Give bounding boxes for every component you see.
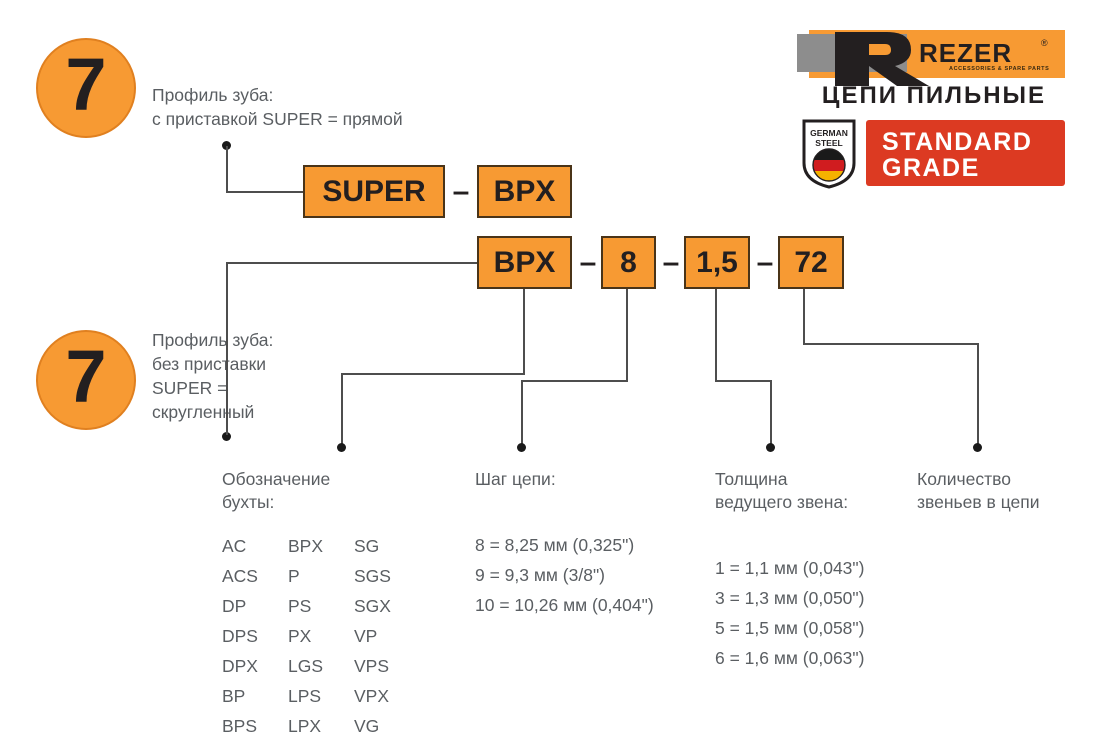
list-item: DPX	[222, 651, 288, 681]
code-box-bpx-top[interactable]: BPX	[477, 165, 572, 218]
connector-dot-gauge	[766, 443, 775, 452]
list-item: P	[288, 561, 354, 591]
legend-pitch-items: 8 = 8,25 мм (0,325") 9 = 9,3 мм (3/8") 1…	[475, 530, 654, 620]
tooth-profile-badge-1: 7	[36, 38, 136, 138]
logo-tagline: ACCESSORIES & SPARE PARTS	[949, 66, 1049, 72]
list-item: PS	[288, 591, 354, 621]
svg-text:STEEL: STEEL	[815, 138, 842, 148]
code-box-gauge[interactable]: 1,5	[684, 236, 750, 289]
code-box-bpx[interactable]: BPX	[477, 236, 572, 289]
connector-coil-horz	[341, 373, 525, 375]
list-item: 5 = 1,5 мм (0,058")	[715, 613, 864, 643]
connector-line-row2-horz	[226, 262, 478, 264]
list-item: BPX	[288, 531, 354, 561]
legend-coil-column-3: SG SGS SGX VP VPS VPX VG	[354, 531, 420, 741]
brand-logo-block: REZER ® ACCESSORIES & SPARE PARTS ЦЕПИ П…	[797, 30, 1065, 195]
connector-line-row1-horz	[226, 191, 304, 193]
list-item: VPS	[354, 651, 420, 681]
list-item: LPX	[288, 711, 354, 741]
connector-links-vert-b	[977, 343, 979, 448]
separator-dash-1: –	[447, 165, 475, 218]
connector-dot-links	[973, 443, 982, 452]
list-item: 8 = 8,25 мм (0,325")	[475, 530, 654, 560]
code-box-pitch[interactable]: 8	[601, 236, 656, 289]
code-box-links[interactable]: 72	[778, 236, 844, 289]
legend-coil-columns: AC ACS DP DPS DPX BP BPS BPX P PS PX LGS…	[222, 531, 420, 741]
legend-links: Количество звеньев в цепи	[917, 468, 1040, 514]
connector-line-row1-vert	[226, 146, 228, 193]
connector-dot-pitch	[517, 443, 526, 452]
separator-dash-4: –	[751, 236, 779, 289]
tooth-profile-label-1: Профиль зуба: с приставкой SUPER = прямо…	[152, 83, 482, 131]
list-item: VPX	[354, 681, 420, 711]
standard-grade-line-2: GRADE	[882, 156, 980, 181]
logo-wordmark: REZER	[919, 40, 1012, 66]
connector-links-horz	[803, 343, 979, 345]
list-item: BPS	[222, 711, 288, 741]
list-item: VP	[354, 621, 420, 651]
separator-dash-3: –	[657, 236, 685, 289]
legend-coil-column-1: AC ACS DP DPS DPX BP BPS	[222, 531, 288, 741]
list-item: SGS	[354, 561, 420, 591]
list-item: SG	[354, 531, 420, 561]
legend-links-title: Количество звеньев в цепи	[917, 468, 1040, 514]
registered-trademark-icon: ®	[1041, 38, 1048, 48]
tooth-profile-glyph-2: 7	[38, 332, 134, 428]
tooth-profile-label-2: Профиль зуба: без приставки SUPER = скру…	[152, 328, 332, 424]
legend-gauge-items: 1 = 1,1 мм (0,043") 3 = 1,3 мм (0,050") …	[715, 553, 864, 673]
list-item: 10 = 10,26 мм (0,404")	[475, 590, 654, 620]
tooth-profile-badge-2: 7	[36, 330, 136, 430]
legend-pitch-title: Шаг цепи:	[475, 468, 654, 491]
logo-r-mark	[825, 30, 933, 86]
list-item: DPS	[222, 621, 288, 651]
list-item: DP	[222, 591, 288, 621]
list-item: 9 = 9,3 мм (3/8")	[475, 560, 654, 590]
connector-pitch-vert-a	[626, 289, 628, 381]
connector-links-vert-a	[803, 289, 805, 344]
code-box-super[interactable]: SUPER	[303, 165, 445, 218]
legend-gauge-title: Толщина ведущего звена:	[715, 468, 864, 514]
connector-pitch-vert-b	[521, 380, 523, 448]
standard-grade-line-1: STANDARD	[882, 130, 1032, 155]
list-item: VG	[354, 711, 420, 741]
svg-text:GERMAN: GERMAN	[810, 128, 848, 138]
connector-dot-coil	[337, 443, 346, 452]
connector-gauge-horz	[715, 380, 772, 382]
list-item: SGX	[354, 591, 420, 621]
legend-pitch: Шаг цепи: 8 = 8,25 мм (0,325") 9 = 9,3 м…	[475, 468, 654, 620]
list-item: 1 = 1,1 мм (0,043")	[715, 553, 864, 583]
tooth-profile-glyph-1: 7	[38, 40, 134, 136]
list-item: ACS	[222, 561, 288, 591]
connector-gauge-vert-b	[770, 380, 772, 448]
connector-gauge-vert-a	[715, 289, 717, 381]
german-steel-shield-icon: GERMAN STEEL	[802, 119, 856, 189]
list-item: AC	[222, 531, 288, 561]
separator-dash-2: –	[574, 236, 602, 289]
list-item: LGS	[288, 651, 354, 681]
list-item: PX	[288, 621, 354, 651]
list-item: 3 = 1,3 мм (0,050")	[715, 583, 864, 613]
legend-coil-title: Обозначение бухты:	[222, 468, 420, 514]
connector-coil-vert-b	[341, 373, 343, 448]
legend-coil-column-2: BPX P PS PX LGS LPS LPX	[288, 531, 354, 741]
connector-coil-vert-a	[523, 289, 525, 374]
legend-coil: Обозначение бухты: AC ACS DP DPS DPX BP …	[222, 468, 420, 741]
list-item: LPS	[288, 681, 354, 711]
list-item: 6 = 1,6 мм (0,063")	[715, 643, 864, 673]
legend-gauge: Толщина ведущего звена: 1 = 1,1 мм (0,04…	[715, 468, 864, 673]
product-category-title: ЦЕПИ ПИЛЬНЫЕ	[803, 84, 1065, 108]
standard-grade-badge: STANDARD GRADE	[866, 120, 1065, 186]
list-item: BP	[222, 681, 288, 711]
connector-line-row2-vert	[226, 263, 228, 435]
infographic-page: 7 Профиль зуба: с приставкой SUPER = пря…	[0, 0, 1094, 750]
connector-pitch-horz	[521, 380, 628, 382]
